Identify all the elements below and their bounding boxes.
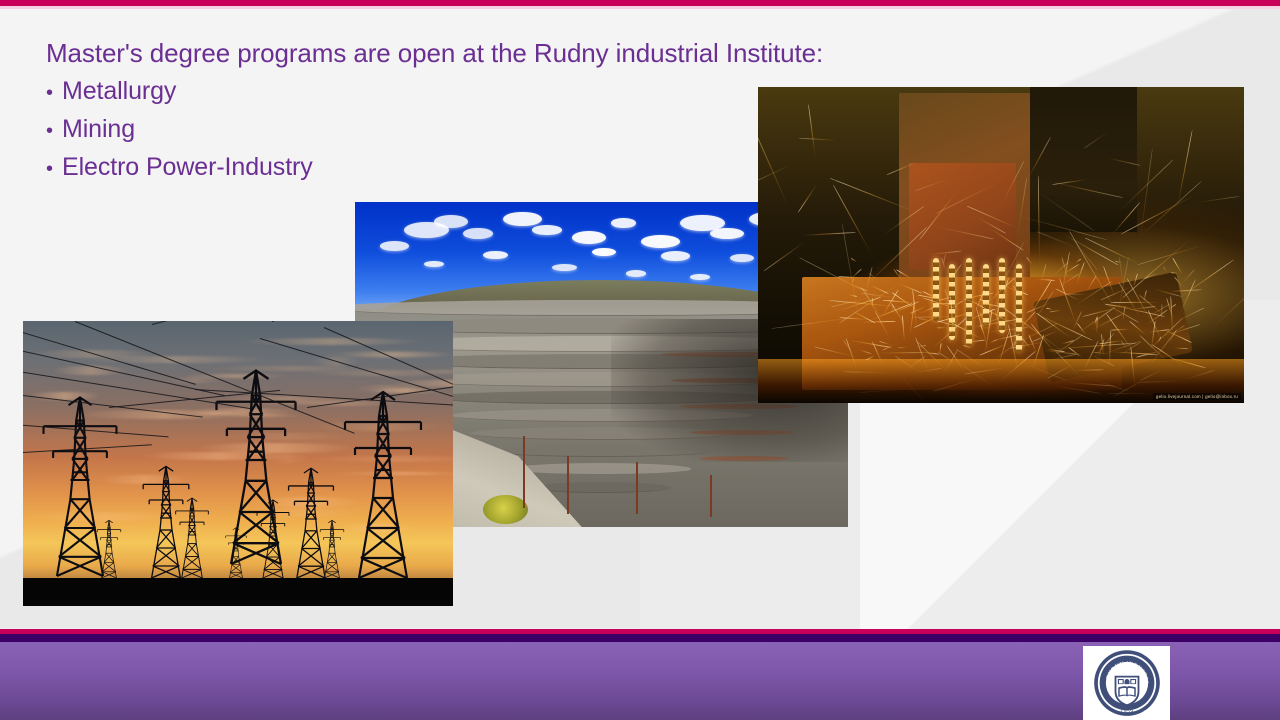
top-accent-bar-light xyxy=(0,6,1280,9)
institute-logo: RUDNY INDUSTRIALNY INSTITUTE 1959 xyxy=(1083,646,1170,720)
seal-icon: RUDNY INDUSTRIALNY INSTITUTE 1959 xyxy=(1090,648,1164,718)
slide-title: Master's degree programs are open at the… xyxy=(46,36,1006,70)
seal-year: 1959 xyxy=(1120,709,1133,715)
metallurgy-panel-hot xyxy=(909,163,1016,270)
power-ground xyxy=(23,578,453,607)
list-item-label: Electro Power-Industry xyxy=(62,148,313,186)
metallurgy-photo: gelio.livejournal.com | gelio@inbox.ru xyxy=(758,87,1244,403)
bullet-icon: • xyxy=(46,83,62,103)
list-item-label: Metallurgy xyxy=(62,72,176,110)
mining-shrub xyxy=(483,495,527,524)
power-photo xyxy=(23,321,453,606)
list-item-label: Mining xyxy=(62,110,135,148)
photo-credit: gelio.livejournal.com | gelio@inbox.ru xyxy=(1153,393,1241,400)
bottom-dark-bar xyxy=(0,634,1280,642)
presentation-slide: Master's degree programs are open at the… xyxy=(0,0,1280,720)
bullet-icon: • xyxy=(46,121,62,141)
bullet-icon: • xyxy=(46,159,62,179)
